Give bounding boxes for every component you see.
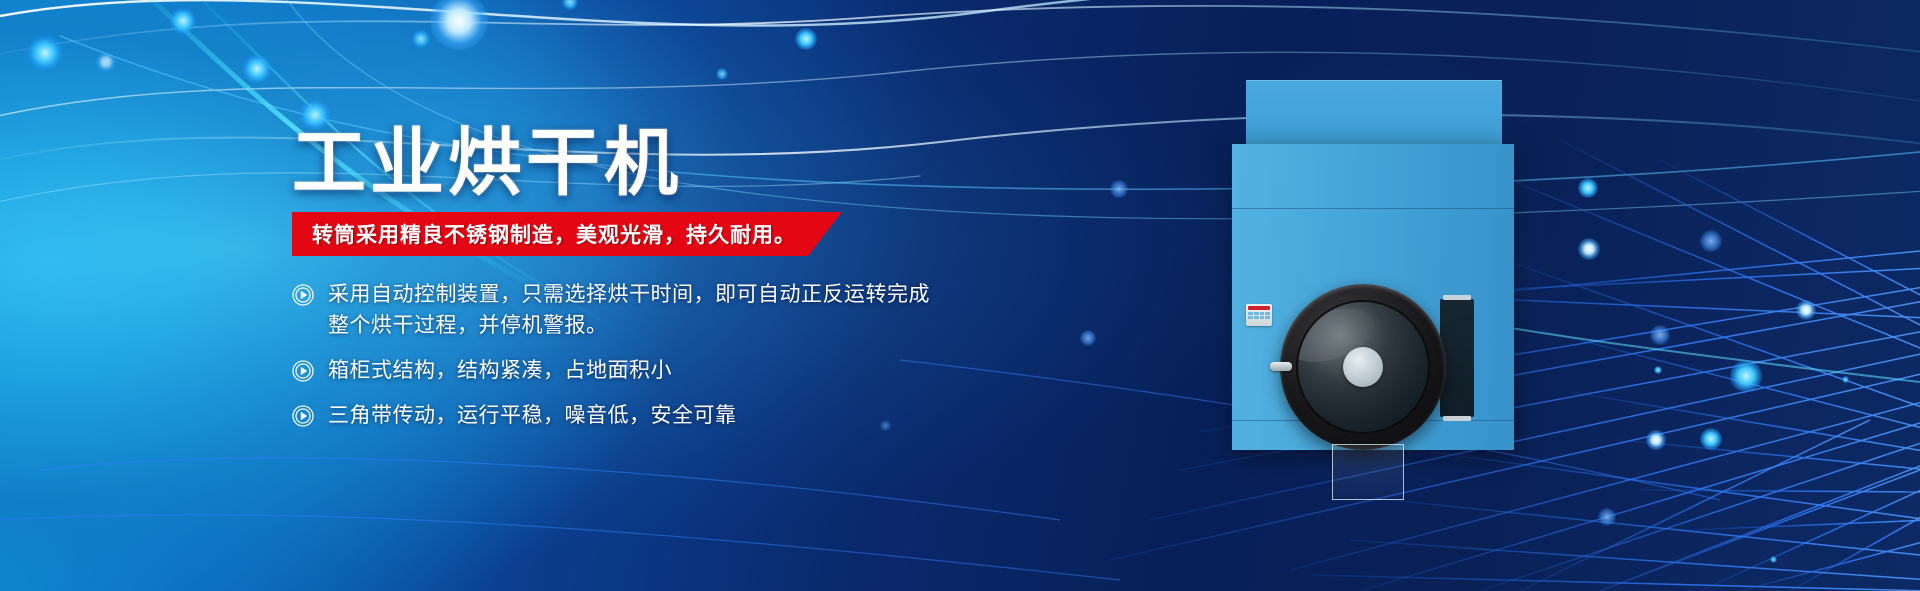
machine-seam xyxy=(1232,208,1514,209)
lower-access-hatch xyxy=(1332,444,1404,500)
play-circle-icon xyxy=(292,284,314,306)
play-circle-icon xyxy=(292,405,314,427)
feature-text: 采用自动控制装置，只需选择烘干时间，即可自动正反运转完成 整个烘干过程，并停机警… xyxy=(328,279,930,341)
hinge-bracket xyxy=(1443,416,1471,421)
panel-display xyxy=(1248,306,1270,310)
tagline-text: 转筒采用精良不锈钢制造，美观光滑，持久耐用。 xyxy=(312,219,796,249)
machine-cabinet xyxy=(1232,144,1514,450)
drum-door xyxy=(1280,284,1446,450)
control-panel xyxy=(1246,304,1272,326)
drum-hub xyxy=(1343,347,1383,387)
hero-banner: 工业烘干机 转筒采用精良不锈钢制造，美观光滑，持久耐用。 采用自动控制装置，只需… xyxy=(0,0,1920,591)
node-dot xyxy=(1598,508,1616,526)
panel-key xyxy=(1254,312,1259,315)
door-glass xyxy=(1296,300,1430,434)
list-item: 箱柜式结构，结构紧凑，占地面积小 xyxy=(292,355,1072,386)
node-dot xyxy=(1700,428,1722,450)
play-circle-icon xyxy=(292,360,314,382)
feature-list: 采用自动控制装置，只需选择烘干时间，即可自动正反运转完成 整个烘干过程，并停机警… xyxy=(292,279,1072,431)
node-dot xyxy=(1770,556,1777,563)
panel-key xyxy=(1260,312,1265,315)
panel-key xyxy=(1260,316,1265,319)
panel-key xyxy=(1265,316,1270,319)
machine-top-panel xyxy=(1246,80,1502,144)
panel-key xyxy=(1248,316,1253,319)
node-dot xyxy=(1578,178,1598,198)
product-image xyxy=(1232,80,1514,450)
panel-key xyxy=(1265,312,1270,315)
node-dot xyxy=(1654,366,1662,374)
node-dot xyxy=(1700,230,1722,252)
panel-keypad xyxy=(1248,312,1270,319)
panel-key xyxy=(1248,312,1253,315)
banner-content: 工业烘干机 转筒采用精良不锈钢制造，美观光滑，持久耐用。 采用自动控制装置，只需… xyxy=(0,0,1100,591)
feature-text: 箱柜式结构，结构紧凑，占地面积小 xyxy=(328,355,672,386)
feature-text: 三角带传动，运行平稳，噪音低，安全可靠 xyxy=(328,400,737,431)
node-dot xyxy=(1110,180,1128,198)
panel-key xyxy=(1254,316,1259,319)
list-item: 采用自动控制装置，只需选择烘干时间，即可自动正反运转完成 整个烘干过程，并停机警… xyxy=(292,279,1072,341)
node-dot xyxy=(1646,430,1666,450)
hinge-bracket xyxy=(1443,295,1471,300)
node-dot xyxy=(1796,300,1816,320)
node-dot xyxy=(1650,325,1670,345)
page-title: 工业烘干机 xyxy=(292,124,682,202)
door-latch xyxy=(1270,362,1292,371)
node-dot xyxy=(1842,376,1849,383)
node-dot xyxy=(1730,360,1762,392)
node-dot xyxy=(1578,238,1600,260)
list-item: 三角带传动，运行平稳，噪音低，安全可靠 xyxy=(292,400,1072,431)
tagline-banner: 转筒采用精良不锈钢制造，美观光滑，持久耐用。 xyxy=(292,212,842,256)
